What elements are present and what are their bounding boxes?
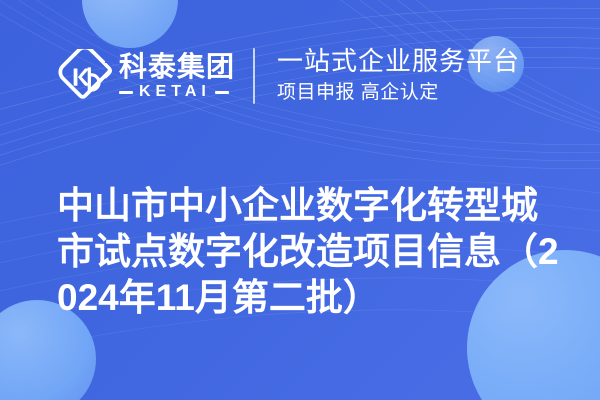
wordmark-dash-left xyxy=(119,91,133,94)
header-divider xyxy=(253,48,255,104)
promo-banner: 科泰集团 KETAI 一站式企业服务平台 项目申报 高企认定 中山市中小企业数字… xyxy=(0,0,600,400)
brand-name-en-row: KETAI xyxy=(119,84,235,100)
ketai-diamond-monogram-icon xyxy=(58,49,112,103)
brand-wordmark: 科泰集团 KETAI xyxy=(119,52,235,100)
slogan-secondary: 项目申报 高企认定 xyxy=(277,82,520,105)
banner-header: 科泰集团 KETAI 一站式企业服务平台 项目申报 高企认定 xyxy=(0,36,600,116)
brand-slogan: 一站式企业服务平台 项目申报 高企认定 xyxy=(277,47,520,105)
wordmark-dash-right xyxy=(215,91,229,94)
brand-name-en: KETAI xyxy=(139,84,211,100)
page-title: 中山市中小企业数字化转型城市试点数字化改造项目信息（2024年11月第二批） xyxy=(57,183,569,321)
slogan-primary: 一站式企业服务平台 xyxy=(277,47,520,77)
brand-logo[interactable]: 科泰集团 KETAI xyxy=(58,49,235,103)
brand-name-cn: 科泰集团 xyxy=(119,52,235,81)
